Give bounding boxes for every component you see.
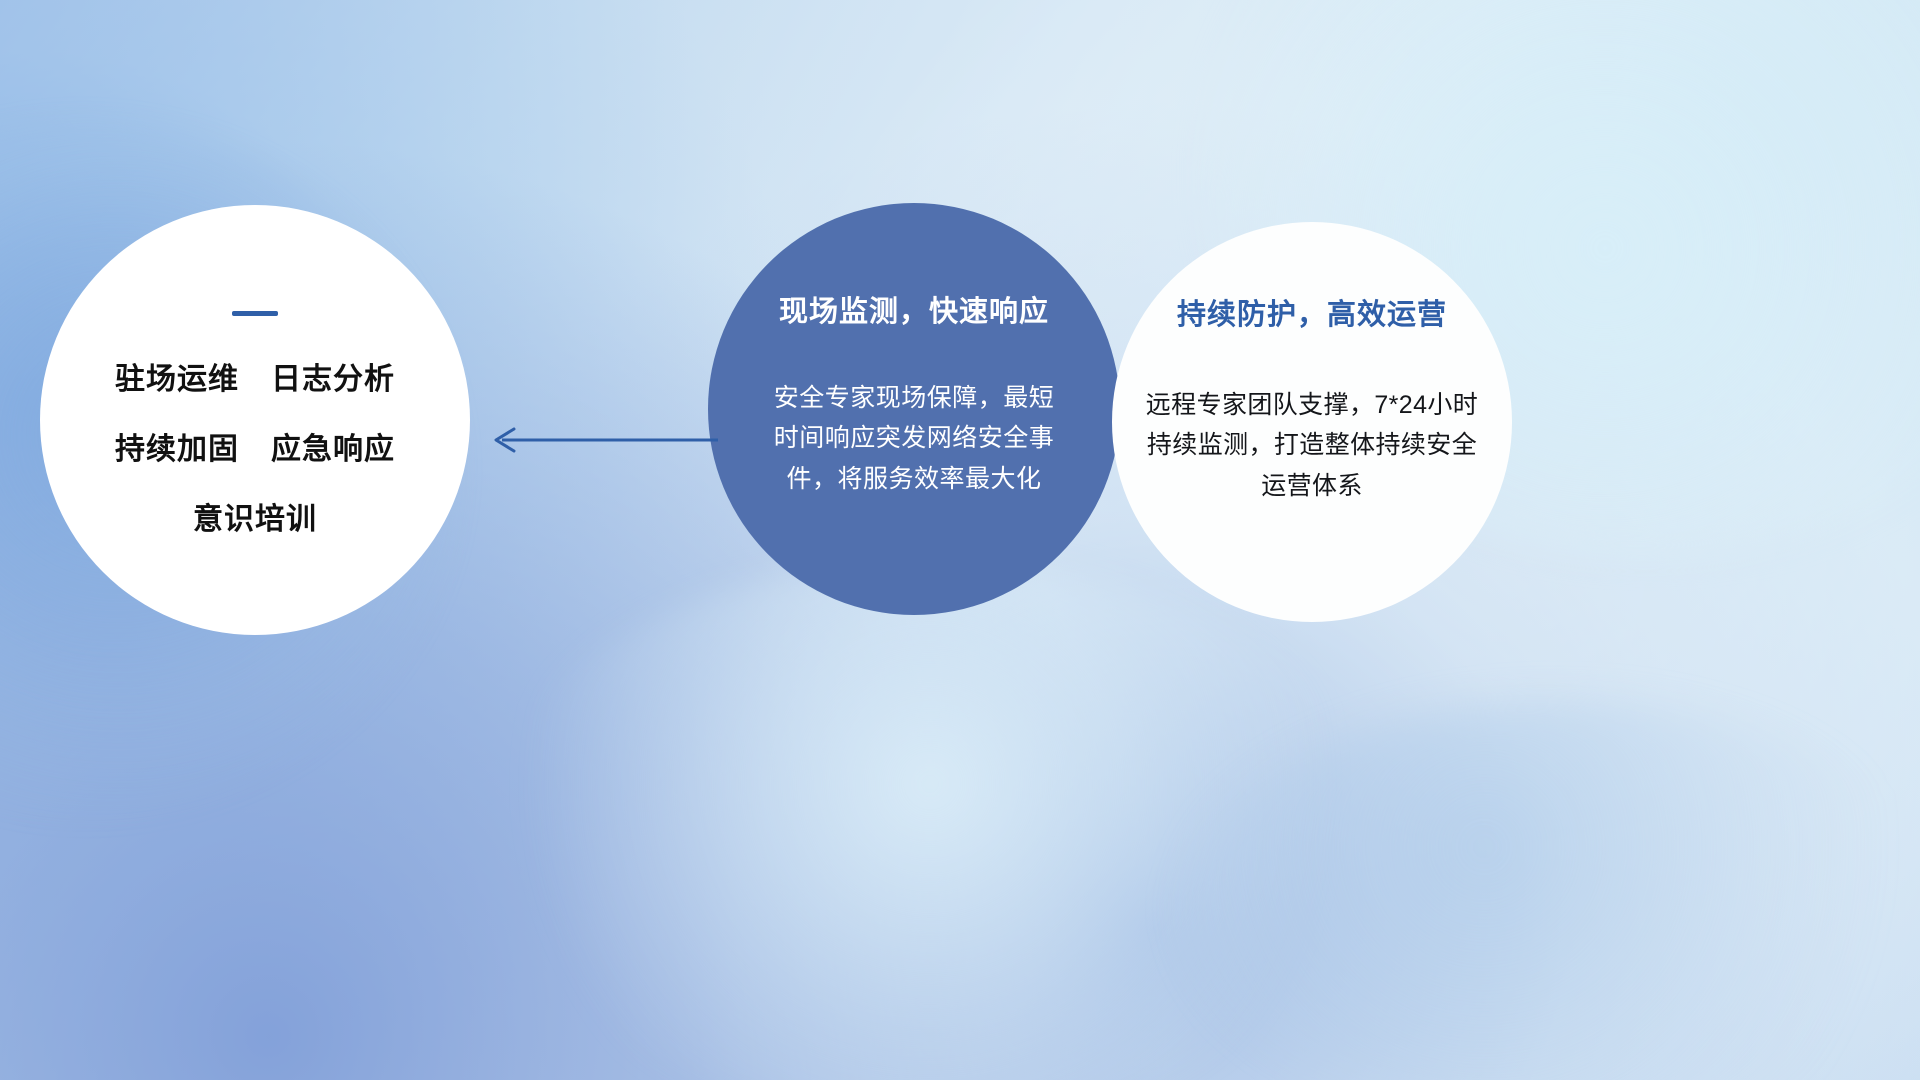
capability-row: 驻场运维 日志分析 bbox=[115, 354, 395, 398]
continuous-protection-title: 持续防护，高效运营 bbox=[1177, 298, 1447, 333]
capability-list: 驻场运维 日志分析 持续加固 应急响应 意识培训 bbox=[115, 354, 395, 538]
flow-arrow-left-icon bbox=[480, 418, 720, 462]
continuous-protection-circle[interactable]: 持续防护，高效运营 远程专家团队支撑，7*24小时持续监测，打造整体持续安全运营… bbox=[1112, 222, 1512, 622]
capability-item[interactable]: 意识培训 bbox=[193, 494, 317, 538]
onsite-monitoring-circle[interactable]: 现场监测，快速响应 安全专家现场保障，最短时间响应突发网络安全事件，将服务效率最… bbox=[708, 203, 1120, 615]
continuous-protection-body: 远程专家团队支撑，7*24小时持续监测，打造整体持续安全运营体系 bbox=[1136, 385, 1488, 507]
capabilities-circle[interactable]: 驻场运维 日志分析 持续加固 应急响应 意识培训 bbox=[40, 205, 470, 635]
capability-item[interactable]: 日志分析 bbox=[271, 354, 395, 398]
capability-item[interactable]: 持续加固 bbox=[115, 424, 239, 468]
background-blob-bottom-right bbox=[1180, 700, 1920, 1080]
capability-item[interactable]: 应急响应 bbox=[271, 424, 395, 468]
divider-dash-icon bbox=[232, 311, 278, 316]
capability-item[interactable]: 驻场运维 bbox=[115, 354, 239, 398]
onsite-monitoring-body: 安全专家现场保障，最短时间响应突发网络安全事件，将服务效率最大化 bbox=[764, 378, 1064, 500]
capability-row: 意识培训 bbox=[193, 494, 317, 538]
slide-canvas: 驻场运维 日志分析 持续加固 应急响应 意识培训 现场监测，快速响应 安全专家现… bbox=[0, 0, 1920, 1080]
capability-row: 持续加固 应急响应 bbox=[115, 424, 395, 468]
background-blob-center bbox=[480, 560, 1380, 1080]
onsite-monitoring-title: 现场监测，快速响应 bbox=[779, 295, 1049, 330]
